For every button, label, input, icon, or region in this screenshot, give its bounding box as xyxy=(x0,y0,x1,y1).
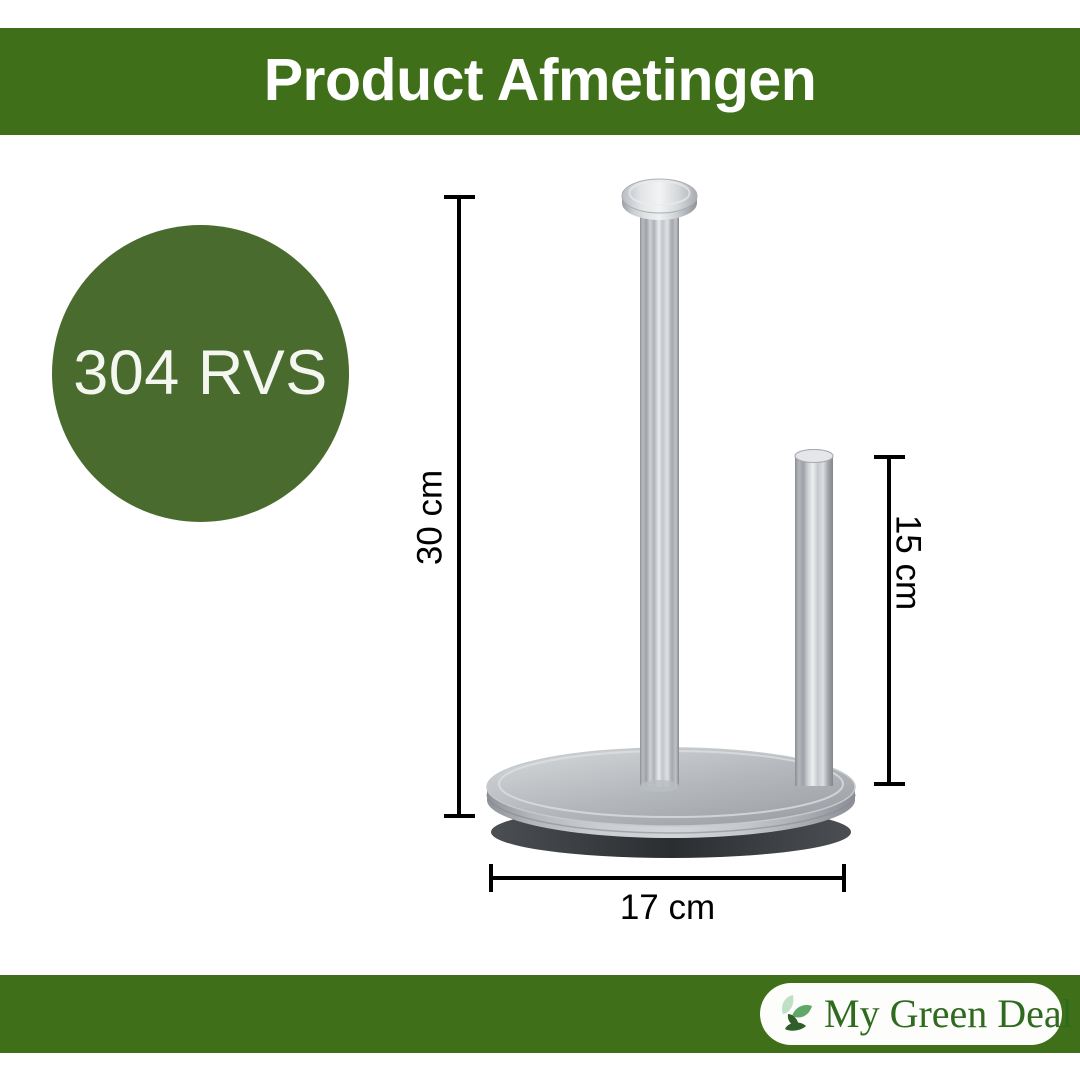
top-cap xyxy=(622,179,697,220)
side-post-upper xyxy=(795,450,833,787)
dimension-cap-bottom xyxy=(444,814,475,818)
dimension-label-side-post: 15 cm xyxy=(891,498,926,628)
leaf-sprout-icon xyxy=(774,991,820,1037)
brand-logo-text: My Green Deal xyxy=(824,994,1073,1034)
dimension-cap-bottom xyxy=(874,782,905,786)
dimension-label-height: 30 cm xyxy=(413,453,448,583)
dimension-label-base: 17 cm xyxy=(489,890,846,925)
main-post-upper xyxy=(640,205,679,792)
product-dimensions-infographic: Product Afmetingen 304 RVS xyxy=(0,0,1080,1080)
dimension-cap-right xyxy=(842,864,846,892)
dimension-line-vertical xyxy=(457,195,461,818)
dimension-line-horizontal xyxy=(489,876,846,880)
brand-logo: My Green Deal xyxy=(760,983,1062,1045)
